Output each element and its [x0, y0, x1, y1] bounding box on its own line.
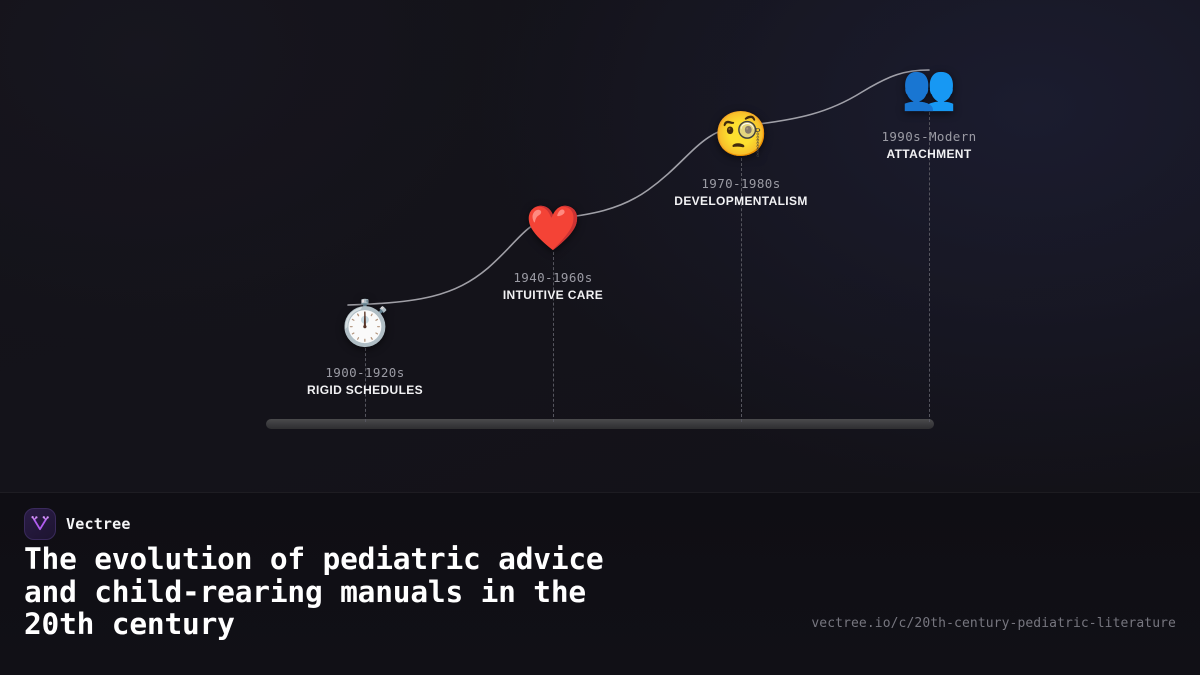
milestone-title: DEVELOPMENTALISM [611, 192, 871, 210]
red-heart-icon: ❤️ [523, 207, 583, 251]
brand-name: Vectree [66, 515, 131, 533]
milestone-labels: 1900-1920s RIGID SCHEDULES [235, 364, 495, 399]
timeline-axis-bar [266, 419, 934, 429]
page-title: The evolution of pediatric advice and ch… [24, 543, 784, 641]
milestone-date: 1990s-Modern [799, 128, 1059, 145]
stopwatch-icon: ⏱️ [335, 302, 395, 346]
milestone-title: ATTACHMENT [799, 145, 1059, 163]
milestone-title: INTUITIVE CARE [423, 286, 683, 304]
face-with-monocle-icon: 🧐 [711, 113, 771, 157]
busts-in-silhouette-icon: 👥 [899, 66, 959, 110]
milestone-labels: 1970-1980s DEVELOPMENTALISM [611, 175, 871, 210]
infographic-canvas: ⏱️ 1900-1920s RIGID SCHEDULES ❤️ 1940-19… [0, 0, 1200, 675]
milestone-labels: 1940-1960s INTUITIVE CARE [423, 269, 683, 304]
brand-lockup[interactable]: Vectree [24, 508, 131, 540]
milestone-title: RIGID SCHEDULES [235, 381, 495, 399]
milestone-labels: 1990s-Modern ATTACHMENT [799, 128, 1059, 163]
milestone-date: 1940-1960s [423, 269, 683, 286]
timeline-stage: ⏱️ 1900-1920s RIGID SCHEDULES ❤️ 1940-19… [0, 0, 1200, 492]
vectree-logo-icon [24, 508, 56, 540]
milestone-date: 1970-1980s [611, 175, 871, 192]
footer-panel: Vectree The evolution of pediatric advic… [0, 493, 1200, 675]
milestone-date: 1900-1920s [235, 364, 495, 381]
source-url: vectree.io/c/20th-century-pediatric-lite… [811, 616, 1176, 631]
